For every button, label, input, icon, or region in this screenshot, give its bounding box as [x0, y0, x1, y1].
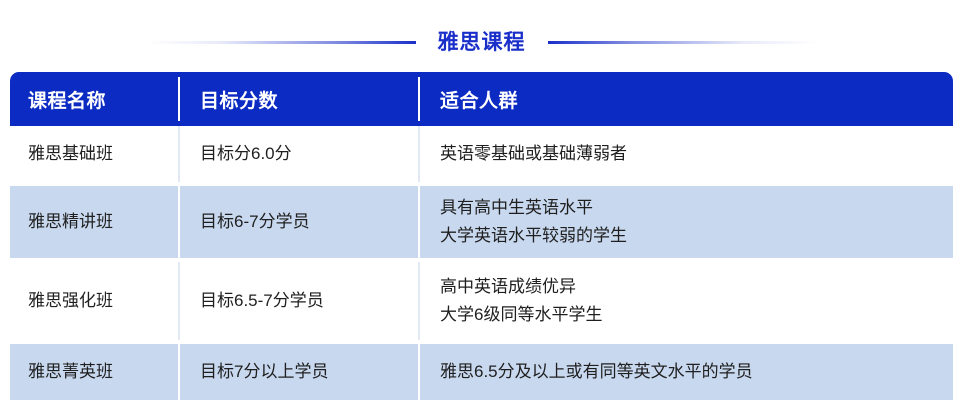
cell-course-name: 雅思菁英班: [10, 344, 178, 400]
page-title: 雅思课程: [438, 32, 526, 53]
cell-course-name: 雅思精讲班: [10, 186, 178, 258]
column-header-audience: 适合人群: [418, 72, 953, 126]
course-table-page: 雅思课程 课程名称 目标分数 适合人群 雅思基础班 目标分6.0分 英语零基础或…: [0, 0, 963, 420]
cell-audience: 高中英语成绩优异 大学6级同等水平学生: [418, 262, 953, 340]
page-title-block: 雅思课程: [0, 22, 963, 62]
cell-audience: 雅思6.5分及以上或有同等英文水平的学员: [418, 344, 953, 400]
title-rule-left-decoration: [146, 41, 416, 44]
column-header-course-name: 课程名称: [10, 72, 178, 126]
table-row: 雅思强化班 目标6.5-7分学员 高中英语成绩优异 大学6级同等水平学生: [10, 262, 953, 340]
cell-course-name: 雅思强化班: [10, 262, 178, 340]
column-header-target-score: 目标分数: [178, 72, 418, 126]
table-row: 雅思菁英班 目标7分以上学员 雅思6.5分及以上或有同等英文水平的学员: [10, 344, 953, 400]
cell-audience-line: 具有高中生英语水平: [440, 194, 953, 222]
title-rule-right-decoration: [548, 41, 818, 44]
table-row: 雅思精讲班 目标6-7分学员 具有高中生英语水平 大学英语水平较弱的学生: [10, 186, 953, 258]
cell-audience: 具有高中生英语水平 大学英语水平较弱的学生: [418, 186, 953, 258]
cell-target-score: 目标6-7分学员: [178, 186, 418, 258]
cell-audience-line: 高中英语成绩优异: [440, 273, 953, 301]
cell-target-score: 目标7分以上学员: [178, 344, 418, 400]
cell-course-name: 雅思基础班: [10, 126, 178, 182]
table-header-row: 课程名称 目标分数 适合人群: [10, 72, 953, 126]
cell-target-score: 目标6.5-7分学员: [178, 262, 418, 340]
cell-target-score: 目标分6.0分: [178, 126, 418, 182]
cell-audience-line: 大学6级同等水平学生: [440, 301, 953, 329]
course-table: 课程名称 目标分数 适合人群 雅思基础班 目标分6.0分 英语零基础或基础薄弱者…: [10, 72, 953, 400]
cell-audience-line: 大学英语水平较弱的学生: [440, 222, 953, 250]
cell-audience: 英语零基础或基础薄弱者: [418, 126, 953, 182]
cell-audience-line: 英语零基础或基础薄弱者: [440, 140, 953, 168]
cell-audience-line: 雅思6.5分及以上或有同等英文水平的学员: [440, 358, 953, 386]
table-row: 雅思基础班 目标分6.0分 英语零基础或基础薄弱者: [10, 126, 953, 182]
